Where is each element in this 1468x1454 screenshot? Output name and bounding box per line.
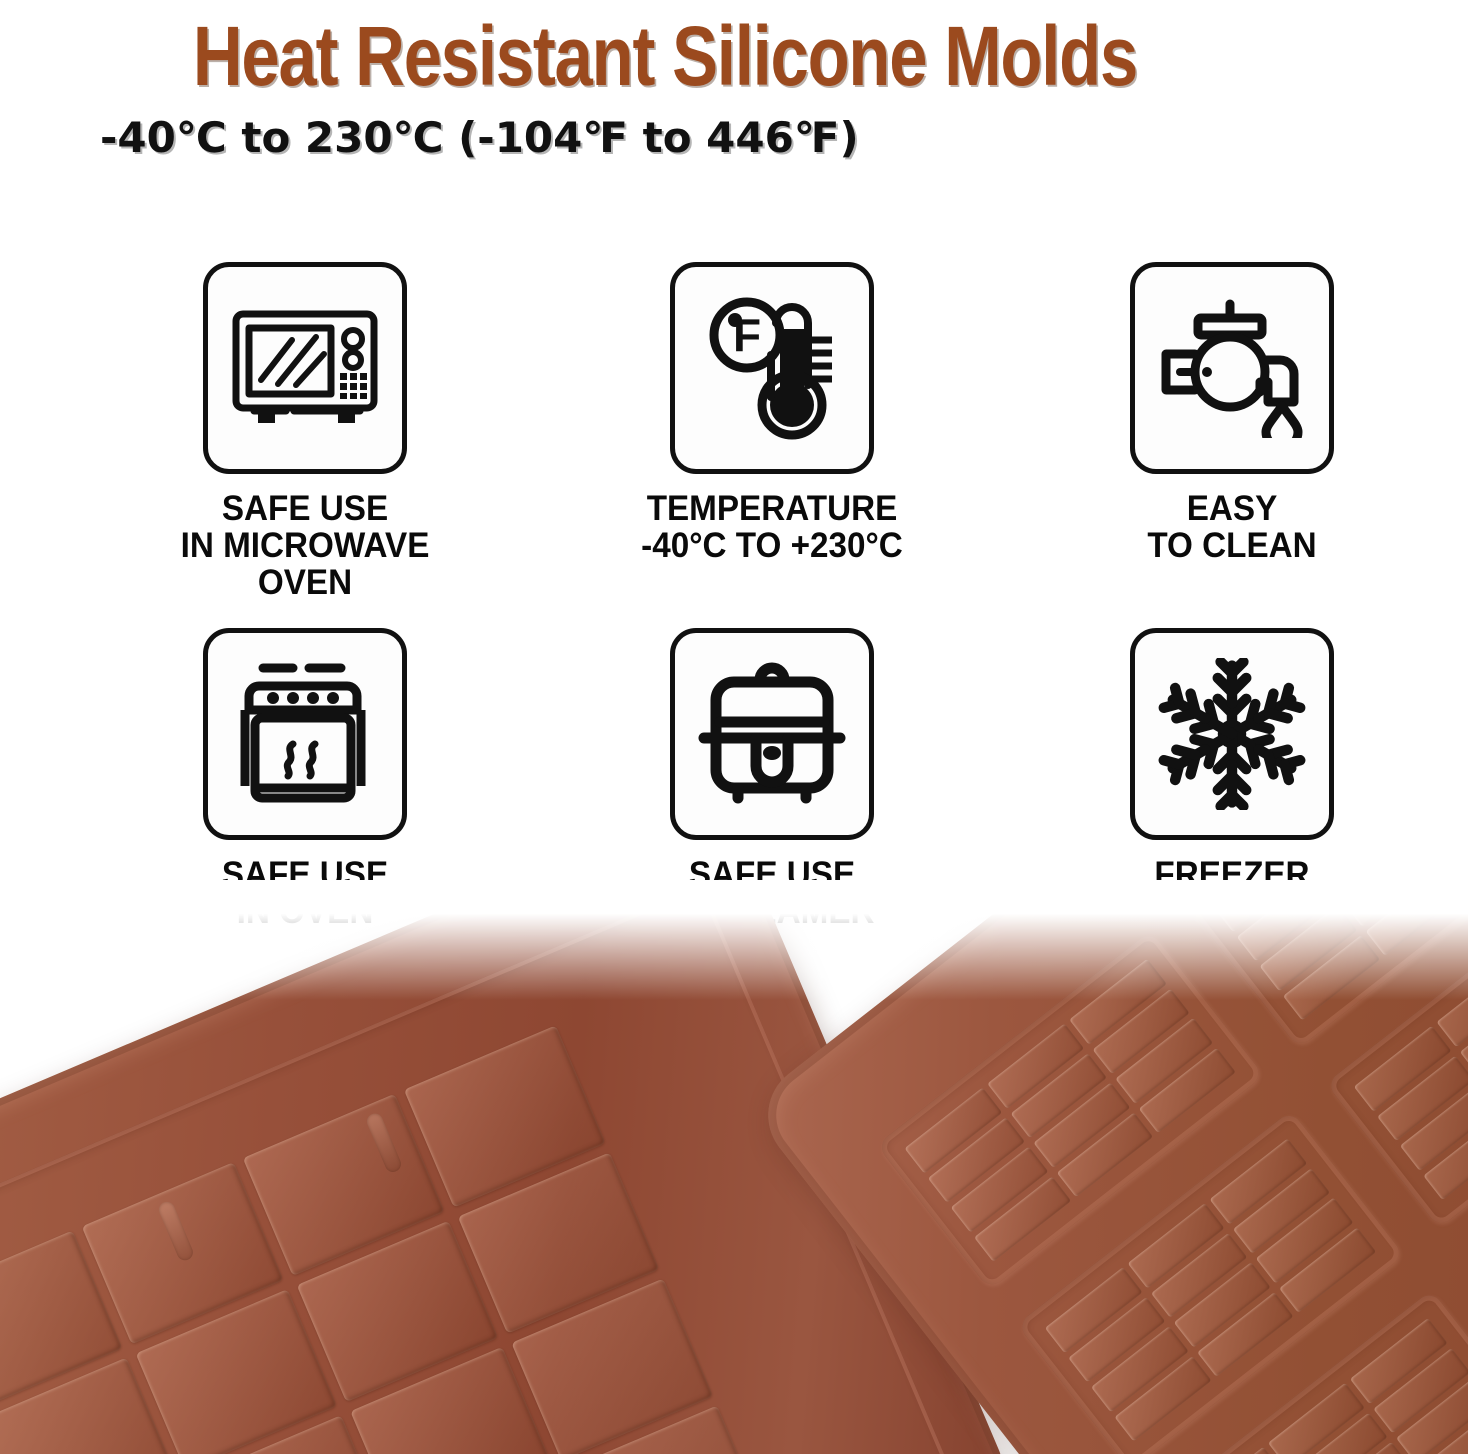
snowflake-icon: [1156, 658, 1308, 810]
microwave-icon: [230, 304, 380, 432]
snowflake-icon-box: [1130, 628, 1334, 840]
steamer-icon-box: [670, 628, 874, 840]
feature-label: EASY TO CLEAN: [1033, 490, 1432, 564]
product-photo: [0, 880, 1468, 1454]
page-title: Heat Resistant Silicone Molds: [120, 10, 1211, 102]
faucet-icon-box: [1130, 262, 1334, 474]
oven-icon: [231, 658, 379, 810]
infographic-page: Heat Resistant Silicone Molds -40℃ to 23…: [0, 0, 1468, 1454]
feature-easy-to-clean: EASY TO CLEAN: [1022, 262, 1442, 564]
faucet-water-drop-icon: [1156, 298, 1308, 438]
feature-label: TEMPERATURE -40°C TO +230°C: [573, 490, 972, 564]
mini-bar-cavity-grid: [876, 880, 1468, 1454]
svg-text:F: F: [733, 309, 761, 361]
feature-grid: SAFE USE IN MICROWAVE OVEN F: [0, 262, 1468, 962]
temperature-range-subtitle: -40℃ to 230℃ (-104℉ to 446℉): [100, 112, 859, 164]
feature-microwave: SAFE USE IN MICROWAVE OVEN: [95, 262, 515, 601]
feature-label: SAFE USE IN MICROWAVE OVEN: [106, 490, 505, 601]
oven-icon-box: [203, 628, 407, 840]
thermometer-fahrenheit-icon: F: [699, 293, 845, 443]
steamer-icon: [696, 660, 848, 808]
feature-temperature: F TEMPERATURE -4: [562, 262, 982, 564]
thermometer-icon-box: F: [670, 262, 874, 474]
microwave-icon-box: [203, 262, 407, 474]
header: Heat Resistant Silicone Molds -40℃ to 23…: [0, 0, 1468, 190]
feature-freezer: FREEZER: [1022, 628, 1442, 893]
